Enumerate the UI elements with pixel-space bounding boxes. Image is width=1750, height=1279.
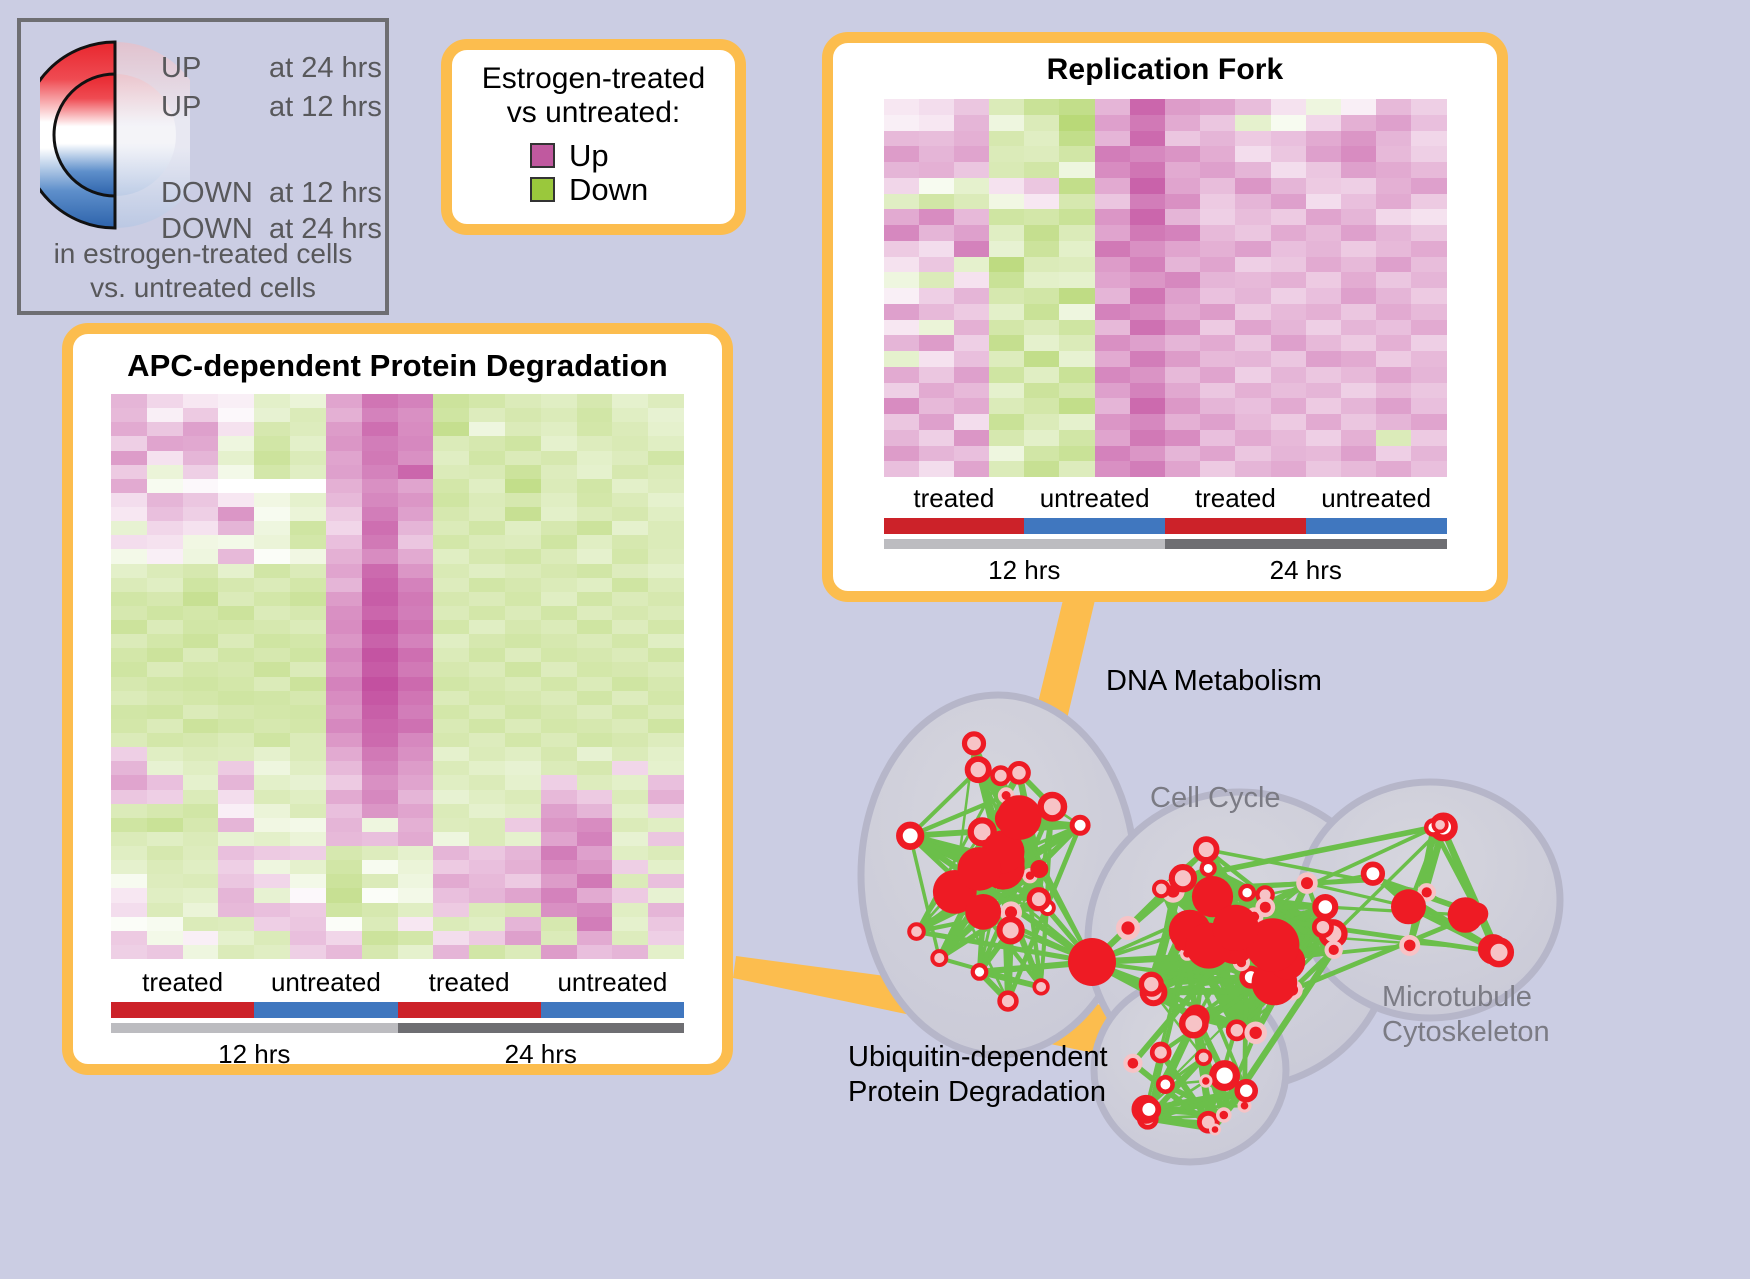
heatmap-cell xyxy=(1411,320,1446,336)
heatmap-cell xyxy=(398,507,434,521)
heatmap-cell xyxy=(1411,146,1446,162)
heatmap-cell xyxy=(218,691,254,705)
heatmap-cell xyxy=(1095,461,1130,477)
network-node xyxy=(909,924,924,939)
heatmap-cell xyxy=(989,383,1024,399)
heatmap-cell xyxy=(183,719,219,733)
heatmap-cell xyxy=(147,931,183,945)
heatmap-cell xyxy=(1341,430,1376,446)
updown-legend-keys: Up Down xyxy=(452,140,735,205)
heatmap-cell xyxy=(1130,209,1165,225)
heatmap-cell xyxy=(612,521,648,535)
heatmap-cell xyxy=(433,775,469,789)
heatmap-cell xyxy=(1411,115,1446,131)
time-color-bar xyxy=(884,539,1166,549)
heatmap-cell xyxy=(1059,194,1094,210)
heatmap-cell xyxy=(577,564,613,578)
heatmap-cell xyxy=(469,691,505,705)
heatmap-cell xyxy=(612,451,648,465)
heatmap-cell xyxy=(1095,351,1130,367)
heatmap-cell xyxy=(1024,146,1059,162)
heatmap-cell xyxy=(469,860,505,874)
network-node xyxy=(1391,889,1426,924)
heatmap-cell xyxy=(111,436,147,450)
heatmap-cell xyxy=(648,804,684,818)
heatmap-cell xyxy=(398,860,434,874)
heatmap-cell xyxy=(1024,461,1059,477)
heatmap-cell xyxy=(954,257,989,273)
footer-line-2: vs. untreated cells xyxy=(21,271,385,305)
heatmap-cell xyxy=(648,860,684,874)
heatmap-cell xyxy=(541,818,577,832)
heatmap-cell xyxy=(1059,398,1094,414)
heatmap-cell xyxy=(1165,131,1200,147)
heatmap-cell xyxy=(1200,241,1235,257)
heatmap-cell xyxy=(469,917,505,931)
heatmap-cell xyxy=(1059,178,1094,194)
heatmap-cell xyxy=(1024,241,1059,257)
heatmap-cell xyxy=(1165,351,1200,367)
network-node xyxy=(1072,817,1088,833)
heatmap-cell xyxy=(290,493,326,507)
heatmap-cell xyxy=(989,367,1024,383)
heatmap-cell xyxy=(218,846,254,860)
heatmap-cell xyxy=(254,408,290,422)
heatmap-cell xyxy=(218,733,254,747)
heatmap-cell xyxy=(541,761,577,775)
heatmap-cell xyxy=(1165,430,1200,446)
heatmap-cell xyxy=(1059,162,1094,178)
heatmap-cell xyxy=(326,662,362,676)
heatmap-cell xyxy=(111,592,147,606)
heatmap-cell xyxy=(1165,115,1200,131)
heatmap-cell xyxy=(183,465,219,479)
heatmap-cell xyxy=(989,225,1024,241)
heatmap-cell xyxy=(577,874,613,888)
heatmap-cell xyxy=(326,606,362,620)
heatmap-cell xyxy=(398,677,434,691)
heatmap-cell xyxy=(1059,115,1094,131)
heatmap-cell xyxy=(1306,320,1341,336)
heatmap-cell xyxy=(362,620,398,634)
heatmap-cell xyxy=(541,804,577,818)
heatmap-cell xyxy=(469,846,505,860)
heatmap-cell xyxy=(612,761,648,775)
heatmap-cell xyxy=(433,790,469,804)
heatmap-cell xyxy=(577,917,613,931)
heatmap-cell xyxy=(1271,225,1306,241)
heatmap-cell xyxy=(326,677,362,691)
heatmap-cell xyxy=(1306,351,1341,367)
heatmap-cell xyxy=(326,535,362,549)
heatmap-cell xyxy=(648,705,684,719)
heatmap-cell xyxy=(218,394,254,408)
heatmap-cell xyxy=(469,945,505,959)
heatmap-cell xyxy=(290,874,326,888)
heatmap-cell xyxy=(1024,209,1059,225)
heatmap-cell xyxy=(989,304,1024,320)
heatmap-cell xyxy=(612,747,648,761)
heatmap-cell xyxy=(290,677,326,691)
heatmap-cell xyxy=(111,394,147,408)
heatmap-cell xyxy=(1376,461,1411,477)
figure-canvas: UP at 24 hrs UP at 12 hrs DOWN at 12 hrs… xyxy=(0,0,1750,1279)
heatmap-cell xyxy=(218,592,254,606)
heatmap-cell xyxy=(433,846,469,860)
heatmap-cell xyxy=(612,592,648,606)
heatmap-cell xyxy=(147,479,183,493)
heatmap-cell xyxy=(1341,367,1376,383)
heatmap-cell xyxy=(1235,320,1270,336)
heatmap-cell xyxy=(362,578,398,592)
heatmap-cell xyxy=(954,320,989,336)
heatmap-cell xyxy=(577,733,613,747)
heatmap-cell xyxy=(1200,414,1235,430)
heatmap-cell xyxy=(362,507,398,521)
heatmap-cell xyxy=(1306,335,1341,351)
heatmap-cell xyxy=(254,860,290,874)
heatmap-cell xyxy=(1059,209,1094,225)
heatmap-cell xyxy=(612,931,648,945)
heatmap-cell xyxy=(1059,367,1094,383)
heatmap-cell xyxy=(111,465,147,479)
heatmap-cell xyxy=(362,479,398,493)
heatmap-cell xyxy=(1341,131,1376,147)
heatmap-cell xyxy=(989,461,1024,477)
heatmap-cell xyxy=(1200,398,1235,414)
heatmap-cell xyxy=(612,846,648,860)
heatmap-cell xyxy=(326,578,362,592)
heatmap-cell xyxy=(290,479,326,493)
heatmap-cell xyxy=(1095,241,1130,257)
heatmap-cell xyxy=(218,620,254,634)
heatmap-cell xyxy=(1376,414,1411,430)
heatmap-cell xyxy=(111,747,147,761)
heatmap-cell xyxy=(1306,115,1341,131)
heatmap-cell xyxy=(577,846,613,860)
heatmap-cell xyxy=(218,422,254,436)
heatmap-cell xyxy=(1024,288,1059,304)
heatmap-cell xyxy=(147,747,183,761)
heatmap-cell xyxy=(1376,225,1411,241)
heatmap-cell xyxy=(1271,99,1306,115)
heatmap-cell xyxy=(1411,351,1446,367)
heatmap-cell xyxy=(326,620,362,634)
heatmap-cell xyxy=(1376,446,1411,462)
heatmap-cell xyxy=(469,648,505,662)
heatmap-cell xyxy=(111,606,147,620)
heatmap-cell xyxy=(1376,257,1411,273)
heatmap-cell xyxy=(469,592,505,606)
legend-state: DOWN xyxy=(161,179,269,209)
heatmap-cell xyxy=(1376,272,1411,288)
heatmap-cell xyxy=(954,335,989,351)
heatmap-cell xyxy=(326,917,362,931)
heatmap-cell xyxy=(541,564,577,578)
heatmap-cell xyxy=(1200,209,1235,225)
heatmap-cell xyxy=(362,592,398,606)
heatmap-cell xyxy=(1235,272,1270,288)
heatmap-cell xyxy=(989,351,1024,367)
up-label: Up xyxy=(569,140,609,171)
heatmap-cell xyxy=(362,564,398,578)
time-color-bar xyxy=(398,1023,685,1033)
heatmap-cell xyxy=(1024,178,1059,194)
heatmap-cell xyxy=(1024,162,1059,178)
heatmap-cell xyxy=(362,408,398,422)
footer-line-1: in estrogen-treated cells xyxy=(21,237,385,271)
heatmap-cell xyxy=(183,874,219,888)
heatmap-cell xyxy=(884,146,919,162)
group-label: untreated xyxy=(1024,483,1165,514)
heatmap-cell xyxy=(469,606,505,620)
heatmap-cell xyxy=(1200,99,1235,115)
heatmap-cell xyxy=(1306,225,1341,241)
heatmap-cell xyxy=(111,874,147,888)
group-color-bar xyxy=(1306,518,1447,534)
network-node xyxy=(899,825,921,847)
heatmap-cell xyxy=(954,178,989,194)
heatmap-cell xyxy=(398,606,434,620)
heatmap-cell xyxy=(183,761,219,775)
heatmap-cell xyxy=(648,917,684,931)
heatmap-cell xyxy=(433,592,469,606)
heatmap-cell xyxy=(505,479,541,493)
heatmap-cell xyxy=(1059,257,1094,273)
heatmap-cell xyxy=(541,507,577,521)
cluster-label-cell-cycle: Cell Cycle xyxy=(1150,782,1281,815)
heatmap-cell xyxy=(398,479,434,493)
heatmap-cell xyxy=(433,747,469,761)
heatmap-cell xyxy=(1200,320,1235,336)
heatmap-cell xyxy=(1376,146,1411,162)
heatmap-cell xyxy=(183,521,219,535)
heatmap-cell xyxy=(1095,162,1130,178)
heatmap-cell xyxy=(218,931,254,945)
heatmap-cell xyxy=(433,606,469,620)
heatmap-cell xyxy=(1024,414,1059,430)
heatmap-cell xyxy=(398,903,434,917)
heatmap-cell xyxy=(326,451,362,465)
heatmap-cell xyxy=(1165,398,1200,414)
heatmap-cell xyxy=(326,733,362,747)
heatmap-cell xyxy=(541,931,577,945)
heatmap-cell xyxy=(254,846,290,860)
heatmap-cell xyxy=(954,209,989,225)
heatmap-cell xyxy=(648,818,684,832)
heatmap-cell xyxy=(218,535,254,549)
heatmap-cell xyxy=(433,804,469,818)
heatmap-cell xyxy=(290,436,326,450)
heatmap-cell xyxy=(254,521,290,535)
heatmap-cell xyxy=(111,620,147,634)
heatmap-cell xyxy=(111,479,147,493)
heatmap-cell xyxy=(218,804,254,818)
heatmap-cell xyxy=(433,451,469,465)
heatmap-cell xyxy=(919,335,954,351)
network-node xyxy=(1213,905,1259,951)
heatmap-cell xyxy=(1130,131,1165,147)
heatmap-cell xyxy=(577,775,613,789)
heatmap-cell xyxy=(111,846,147,860)
heatmap-cell xyxy=(1235,131,1270,147)
heatmap-cell xyxy=(326,592,362,606)
heatmap-cell xyxy=(362,521,398,535)
heatmap-cell xyxy=(254,832,290,846)
heatmap-cell xyxy=(612,564,648,578)
heatmap-cell xyxy=(218,662,254,676)
heatmap-cell xyxy=(254,945,290,959)
heatmap-cell xyxy=(218,761,254,775)
heatmap-cell xyxy=(183,846,219,860)
heatmap-cell xyxy=(147,493,183,507)
heatmap-cell xyxy=(290,790,326,804)
heatmap-cell xyxy=(1165,241,1200,257)
heatmap-cell xyxy=(1376,241,1411,257)
heatmap-cell xyxy=(433,917,469,931)
heatmap-cell xyxy=(1024,398,1059,414)
heatmap-cell xyxy=(1376,367,1411,383)
heatmap-cell xyxy=(919,398,954,414)
time-label: 12 hrs xyxy=(884,555,1166,586)
heatmap-cell xyxy=(577,606,613,620)
heatmap-cell xyxy=(398,535,434,549)
heatmap-cell xyxy=(1024,194,1059,210)
heatmap-cell xyxy=(1130,335,1165,351)
heatmap-cell xyxy=(433,408,469,422)
heatmap-cell xyxy=(1130,115,1165,131)
heatmap-cell xyxy=(254,931,290,945)
heatmap-cell xyxy=(1306,178,1341,194)
heatmap-cell xyxy=(505,422,541,436)
heatmap-cell xyxy=(884,446,919,462)
heatmap-cell xyxy=(433,860,469,874)
heatmap-cell xyxy=(577,479,613,493)
heatmap-cell xyxy=(398,846,434,860)
heatmap-cell xyxy=(1271,430,1306,446)
heatmap-cell xyxy=(218,578,254,592)
heatmap-cell xyxy=(469,394,505,408)
network-node-core xyxy=(1260,902,1271,913)
group-color-bar xyxy=(111,1002,254,1018)
heatmap-cell xyxy=(1376,351,1411,367)
heatmap-cell xyxy=(1235,461,1270,477)
heatmap-cell xyxy=(1411,304,1446,320)
heatmap-cell xyxy=(1095,225,1130,241)
heatmap-cell xyxy=(218,945,254,959)
heatmap-cell xyxy=(1095,398,1130,414)
heatmap-cell xyxy=(398,733,434,747)
heatmap-cell xyxy=(433,521,469,535)
heatmap-cell xyxy=(1271,162,1306,178)
heatmap-cell xyxy=(612,888,648,902)
heatmap-cell xyxy=(541,888,577,902)
heatmap-cell xyxy=(398,422,434,436)
heatmap-cell xyxy=(183,888,219,902)
heatmap-cell xyxy=(612,860,648,874)
heatmap-cell xyxy=(1130,225,1165,241)
heatmap-cell xyxy=(254,634,290,648)
heatmap-cell xyxy=(1235,178,1270,194)
heatmap-cell xyxy=(469,422,505,436)
heatmap-cell xyxy=(1411,288,1446,304)
heatmap-cell xyxy=(612,733,648,747)
heatmap-cell xyxy=(1411,446,1446,462)
heatmap-cell xyxy=(1411,430,1446,446)
heatmap-cell xyxy=(398,620,434,634)
heatmap-cell xyxy=(541,408,577,422)
heatmap-cell xyxy=(183,733,219,747)
heatmap-cell xyxy=(577,790,613,804)
heatmap-cell xyxy=(290,775,326,789)
network-node xyxy=(1000,993,1017,1010)
heatmap-cell xyxy=(1306,398,1341,414)
network-node xyxy=(965,894,1001,930)
heatmap-cell xyxy=(1130,414,1165,430)
heatmap-cell xyxy=(111,931,147,945)
heatmap-cell xyxy=(989,115,1024,131)
heatmap-cell xyxy=(1095,304,1130,320)
heatmap-cell xyxy=(1235,194,1270,210)
network-node xyxy=(1140,1100,1159,1119)
heatmap-cell xyxy=(362,804,398,818)
heatmap-cell xyxy=(648,521,684,535)
heatmap-cell xyxy=(954,115,989,131)
heatmap-cell xyxy=(326,422,362,436)
heatmap-cell xyxy=(919,131,954,147)
heatmap-cell xyxy=(884,398,919,414)
heatmap-cell xyxy=(1200,131,1235,147)
heatmap-cell xyxy=(469,874,505,888)
heatmap-cell xyxy=(1376,304,1411,320)
heatmap-cell xyxy=(577,521,613,535)
heatmap-cell xyxy=(1306,162,1341,178)
heatmap-cell xyxy=(433,549,469,563)
heatmap-cell xyxy=(1271,461,1306,477)
heatmap-cell xyxy=(648,888,684,902)
heatmap-cell xyxy=(147,832,183,846)
heatmap-cell xyxy=(326,747,362,761)
heatmap-cell xyxy=(398,592,434,606)
heatmap-cell xyxy=(111,888,147,902)
heatmap-cell xyxy=(989,162,1024,178)
heatmap-cell xyxy=(1024,335,1059,351)
heatmap-cell xyxy=(469,535,505,549)
heatmap-cell xyxy=(919,272,954,288)
heatmap-cell xyxy=(183,832,219,846)
heatmap-cell xyxy=(954,367,989,383)
heatmap-cell xyxy=(1200,115,1235,131)
heatmap-cell xyxy=(1059,131,1094,147)
heatmap-cell xyxy=(147,620,183,634)
heatmap-cell xyxy=(290,535,326,549)
heatmap-cell xyxy=(1411,131,1446,147)
heatmap-cell xyxy=(433,648,469,662)
heatmap-cell xyxy=(612,606,648,620)
heatmap-cell xyxy=(1341,162,1376,178)
heatmap-cell xyxy=(1024,99,1059,115)
heatmap-cell xyxy=(183,592,219,606)
heatmap-cell xyxy=(111,733,147,747)
heatmap-cell xyxy=(147,521,183,535)
heatmap-cell xyxy=(290,931,326,945)
heatmap-cell xyxy=(954,461,989,477)
heatmap-cell xyxy=(1271,115,1306,131)
heatmap-cell xyxy=(290,578,326,592)
heatmap-cell xyxy=(326,436,362,450)
heatmap-cell xyxy=(648,564,684,578)
heatmap-cell xyxy=(541,394,577,408)
